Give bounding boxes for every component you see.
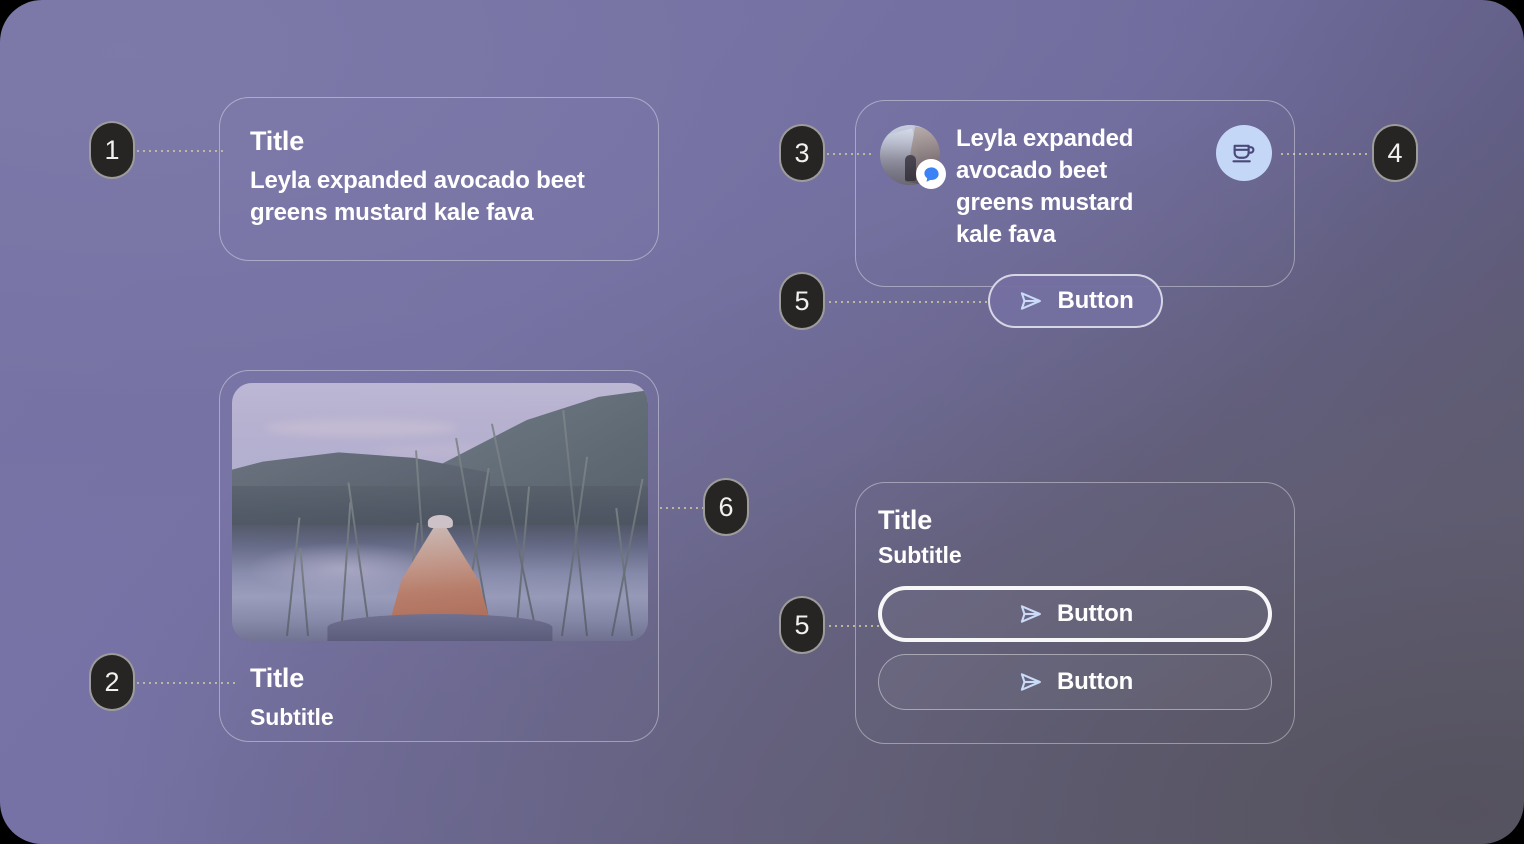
basic-card-body: Leyla expanded avocado beet greens musta…	[250, 165, 628, 229]
basic-card[interactable]: Title Leyla expanded avocado beet greens…	[219, 97, 659, 261]
avatar-photo-subject	[905, 155, 916, 181]
annotation-board: 1 2 3 4 5 5 6 Title Leyla expanded avoca…	[0, 0, 1524, 844]
marker-6[interactable]: 6	[703, 478, 749, 536]
chat-bubble-icon	[916, 159, 946, 189]
connector-6	[660, 507, 707, 509]
actions-button-stack: Button Button	[878, 586, 1272, 710]
marker-3[interactable]: 3	[779, 124, 825, 182]
actions-card-subtitle: Subtitle	[878, 542, 1272, 570]
marker-label: 5	[794, 286, 809, 317]
marker-4[interactable]: 4	[1372, 124, 1418, 182]
actions-card-title: Title	[878, 505, 1272, 536]
marker-label: 5	[794, 610, 809, 641]
floating-button[interactable]: Button	[988, 274, 1163, 328]
avatar-row: Leyla expanded avocado beet greens musta…	[880, 123, 1270, 251]
photo-color-tint	[232, 383, 648, 641]
focused-button-label: Button	[1057, 600, 1133, 628]
connector-5a	[829, 301, 989, 303]
marker-5-floating[interactable]: 5	[779, 272, 825, 330]
marker-label: 2	[104, 667, 119, 698]
send-icon	[1017, 600, 1045, 628]
actions-card[interactable]: Title Subtitle Button Button	[855, 482, 1295, 744]
avatar[interactable]	[880, 125, 940, 185]
media-card-title: Title	[250, 663, 628, 694]
media-card-text: Title Subtitle	[232, 641, 646, 732]
secondary-button[interactable]: Button	[878, 654, 1272, 710]
focused-button[interactable]: Button	[878, 586, 1272, 642]
media-card-subtitle: Subtitle	[250, 704, 628, 732]
avatar-card-body: Leyla expanded avocado beet greens musta…	[956, 123, 1176, 251]
marker-5-focused[interactable]: 5	[779, 596, 825, 654]
marker-2[interactable]: 2	[89, 653, 135, 711]
send-icon	[1017, 287, 1045, 315]
media-card[interactable]: Title Subtitle	[219, 370, 659, 742]
marker-label: 3	[794, 138, 809, 169]
secondary-button-label: Button	[1057, 668, 1133, 696]
marker-label: 1	[104, 135, 119, 166]
send-icon	[1017, 668, 1045, 696]
basic-card-title: Title	[250, 126, 628, 157]
marker-label: 6	[718, 492, 733, 523]
avatar-card[interactable]: Leyla expanded avocado beet greens musta…	[855, 100, 1295, 287]
marker-label: 4	[1387, 138, 1402, 169]
connector-1	[137, 150, 223, 152]
coffee-cup-icon[interactable]	[1216, 125, 1272, 181]
marker-1[interactable]: 1	[89, 121, 135, 179]
floating-button-label: Button	[1057, 287, 1133, 315]
media-thumbnail[interactable]	[232, 383, 648, 641]
